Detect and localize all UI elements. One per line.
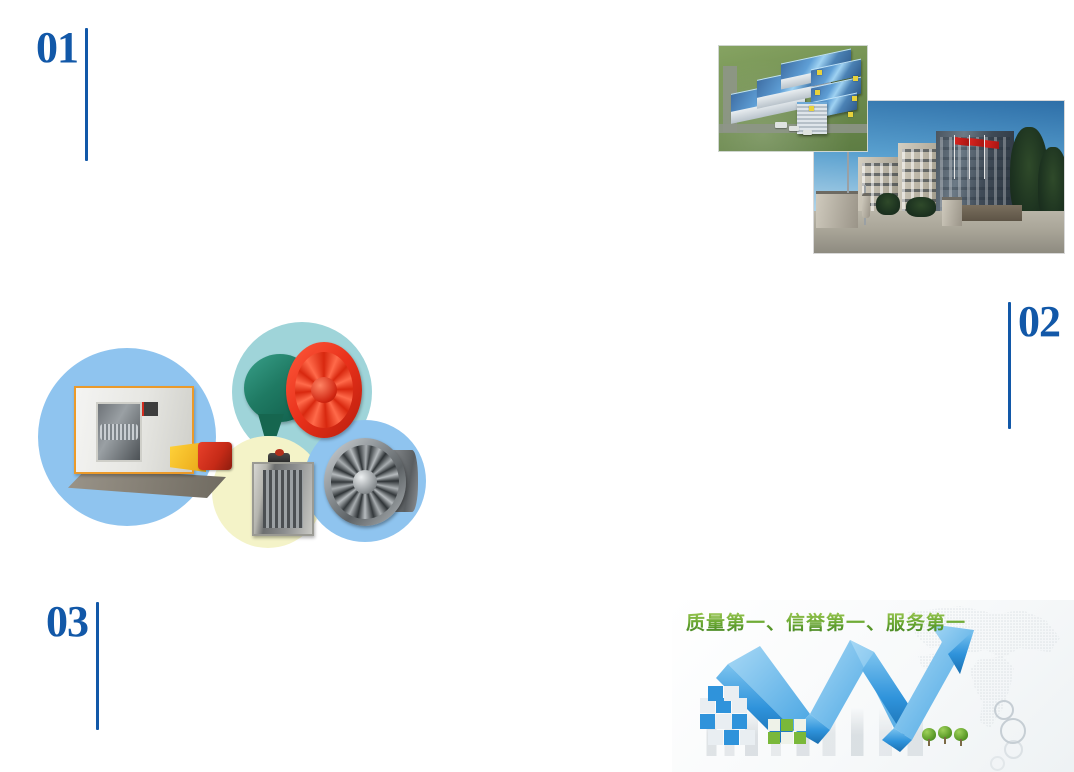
section-marker-02: 02 <box>1008 300 1060 429</box>
section-rule-02 <box>1008 302 1011 429</box>
section-rule-01 <box>85 28 88 161</box>
flag-pole <box>954 135 955 179</box>
tree-icon <box>954 728 968 746</box>
aerial-marker-dot <box>852 96 857 101</box>
flag-pole <box>984 135 985 179</box>
tree-trunk <box>944 737 946 744</box>
aerial-marker-dot <box>853 76 858 81</box>
tree-trunk <box>960 739 962 746</box>
tree-trunk <box>928 739 930 746</box>
flag-pole <box>969 135 970 179</box>
aerial-marker-dot <box>848 112 853 117</box>
tree-icon <box>938 726 952 744</box>
gate-house <box>816 191 858 228</box>
aerial-vehicle <box>803 130 812 135</box>
cabinet-fan-motor <box>198 442 232 470</box>
section-rule-03 <box>96 602 99 730</box>
section-number-02: 02 <box>1018 300 1060 344</box>
banner-caption: 质量第一、信誉第一、服务第一 <box>686 608 966 635</box>
bubble <box>990 756 1005 771</box>
section-marker-03: 03 <box>46 600 99 730</box>
aerial-marker-dot <box>817 70 822 75</box>
damper-knob <box>275 449 284 456</box>
factory-aerial-image <box>718 45 868 152</box>
cabinet-fan-wheel <box>100 424 138 440</box>
chimney <box>862 193 870 218</box>
axial-fan-green <box>244 340 364 446</box>
section-number-01: 01 <box>36 26 78 70</box>
aerial-marker-dot <box>815 90 820 95</box>
axial-fan-ring <box>286 342 362 438</box>
growth-banner-image: 质量第一、信誉第一、服务第一 <box>672 600 1074 772</box>
metal-fan-ring <box>324 438 406 526</box>
bubble <box>1004 740 1023 759</box>
cabinet-control-panel <box>142 402 158 416</box>
section-marker-01: 01 <box>36 26 88 161</box>
gate-post <box>942 197 962 226</box>
axial-fan-hub <box>311 377 337 403</box>
aerial-marker-dot <box>809 106 814 111</box>
axial-fan-foot <box>258 414 284 436</box>
damper-blades <box>263 470 303 528</box>
company-profile-page: 01 02 03 <box>0 0 1074 772</box>
shrub <box>906 197 936 217</box>
green-cube-stack <box>766 712 810 752</box>
blue-cube-stack <box>696 684 764 746</box>
tree-icon <box>922 728 936 746</box>
section-number-03: 03 <box>46 600 88 644</box>
aerial-vehicle <box>775 122 787 128</box>
metal-fan-hub <box>353 470 377 494</box>
perimeter-wall <box>960 205 1022 221</box>
product-collage <box>36 318 426 548</box>
aerial-vehicle <box>789 126 799 131</box>
metal-axial-fan <box>322 436 422 532</box>
damper-body <box>252 462 314 536</box>
cabinet-fan-unit <box>58 380 238 510</box>
fire-damper <box>248 452 314 538</box>
shrub <box>876 193 900 215</box>
bubble <box>994 700 1014 720</box>
